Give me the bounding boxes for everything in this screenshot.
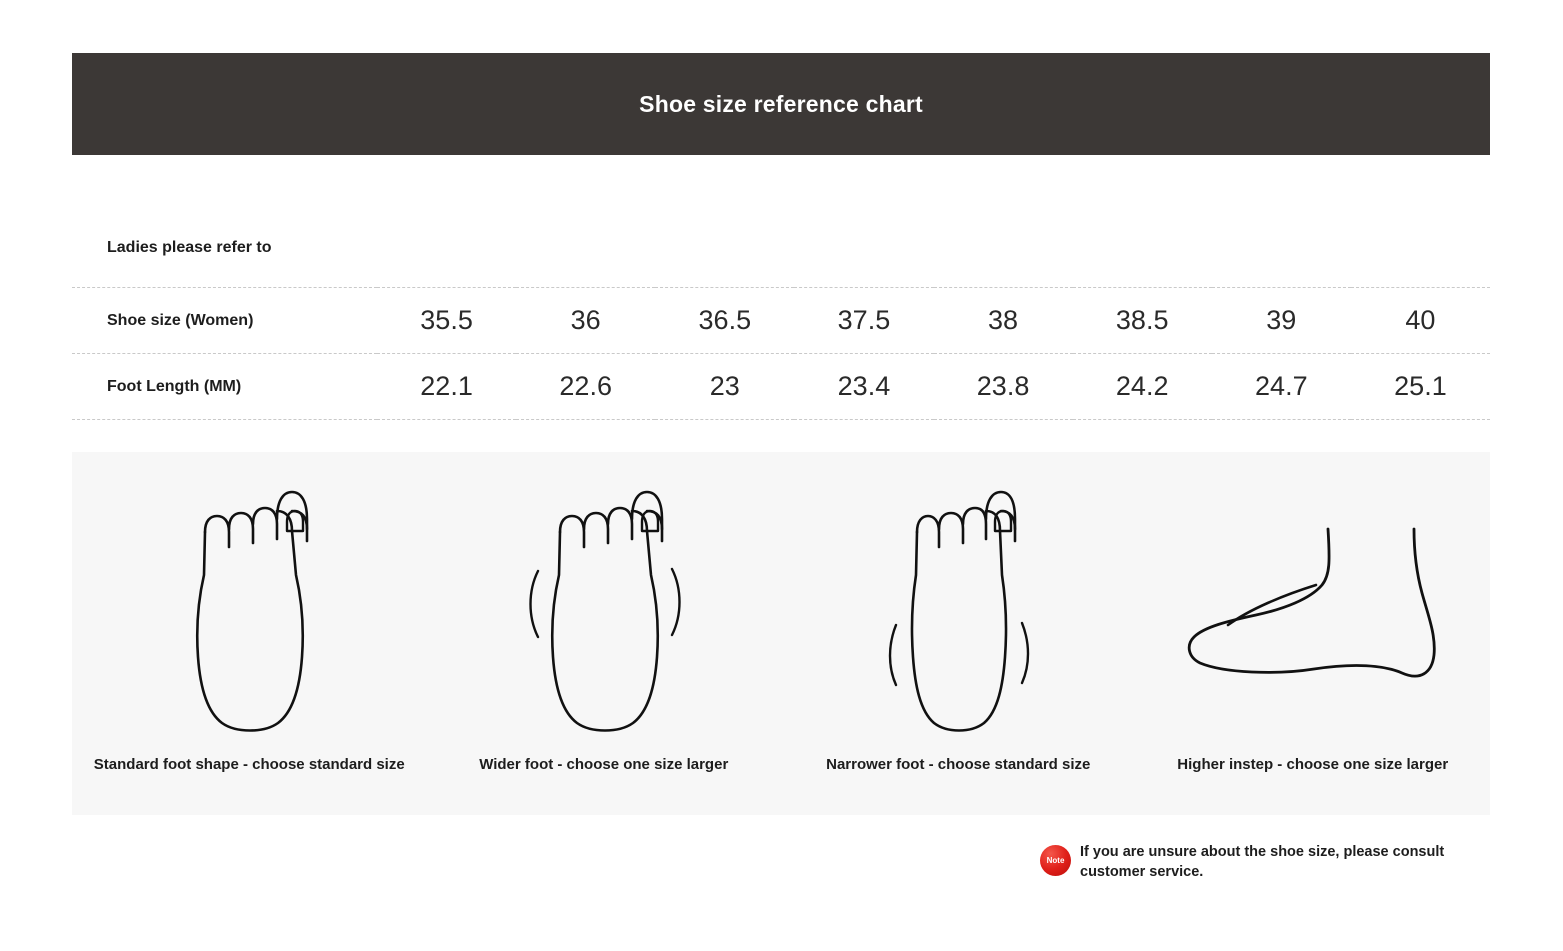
cell-shoe-size-4: 38 xyxy=(934,288,1073,354)
cell-foot-length-3: 23.4 xyxy=(794,354,933,420)
note-badge-icon: Note xyxy=(1040,845,1071,876)
row-label-shoe-size: Shoe size (Women) xyxy=(72,288,377,354)
diagram-cell-standard: Standard foot shape - choose standard si… xyxy=(72,452,427,815)
cell-foot-length-6: 24.7 xyxy=(1212,354,1351,420)
header-banner: Shoe size reference chart xyxy=(72,53,1490,155)
foot-diagram-row: Standard foot shape - choose standard si… xyxy=(72,452,1490,815)
cell-foot-length-0: 22.1 xyxy=(377,354,516,420)
foot-top-narrow-icon xyxy=(872,484,1044,742)
cell-foot-length-4: 23.8 xyxy=(934,354,1073,420)
note-text: If you are unsure about the shoe size, p… xyxy=(1080,843,1510,882)
diagram-cell-narrower: Narrower foot - choose standard size xyxy=(781,452,1136,815)
cell-shoe-size-2: 36.5 xyxy=(655,288,794,354)
cell-shoe-size-1: 36 xyxy=(516,288,655,354)
foot-top-wide-icon xyxy=(518,484,690,742)
foot-side-instep-icon xyxy=(1184,484,1442,742)
diagram-caption-narrower: Narrower foot - choose standard size xyxy=(826,756,1090,773)
diagram-caption-standard: Standard foot shape - choose standard si… xyxy=(94,756,405,773)
shoe-size-chart-page: Shoe size reference chart Ladies please … xyxy=(0,0,1563,951)
note-row: Note If you are unsure about the shoe si… xyxy=(1040,843,1510,882)
table-row-foot-length: Foot Length (MM) 22.1 22.6 23 23.4 23.8 … xyxy=(72,354,1490,420)
cell-foot-length-7: 25.1 xyxy=(1351,354,1490,420)
cell-shoe-size-7: 40 xyxy=(1351,288,1490,354)
cell-shoe-size-0: 35.5 xyxy=(377,288,516,354)
cell-foot-length-1: 22.6 xyxy=(516,354,655,420)
diagram-cell-wider: Wider foot - choose one size larger xyxy=(427,452,782,815)
diagram-caption-wider: Wider foot - choose one size larger xyxy=(479,756,728,773)
diagram-caption-instep: Higher instep - choose one size larger xyxy=(1177,756,1448,773)
foot-diagram-panel: Standard foot shape - choose standard si… xyxy=(72,452,1490,815)
size-table: Shoe size (Women) 35.5 36 36.5 37.5 38 3… xyxy=(72,287,1490,420)
page-title: Shoe size reference chart xyxy=(639,91,923,118)
cell-foot-length-2: 23 xyxy=(655,354,794,420)
foot-top-standard-icon xyxy=(184,484,314,742)
diagram-cell-instep: Higher instep - choose one size larger xyxy=(1136,452,1491,815)
intro-label: Ladies please refer to xyxy=(107,239,272,257)
table-row-shoe-size: Shoe size (Women) 35.5 36 36.5 37.5 38 3… xyxy=(72,288,1490,354)
cell-shoe-size-3: 37.5 xyxy=(794,288,933,354)
cell-shoe-size-6: 39 xyxy=(1212,288,1351,354)
cell-foot-length-5: 24.2 xyxy=(1073,354,1212,420)
cell-shoe-size-5: 38.5 xyxy=(1073,288,1212,354)
note-badge-label: Note xyxy=(1047,857,1065,865)
row-label-foot-length: Foot Length (MM) xyxy=(72,354,377,420)
